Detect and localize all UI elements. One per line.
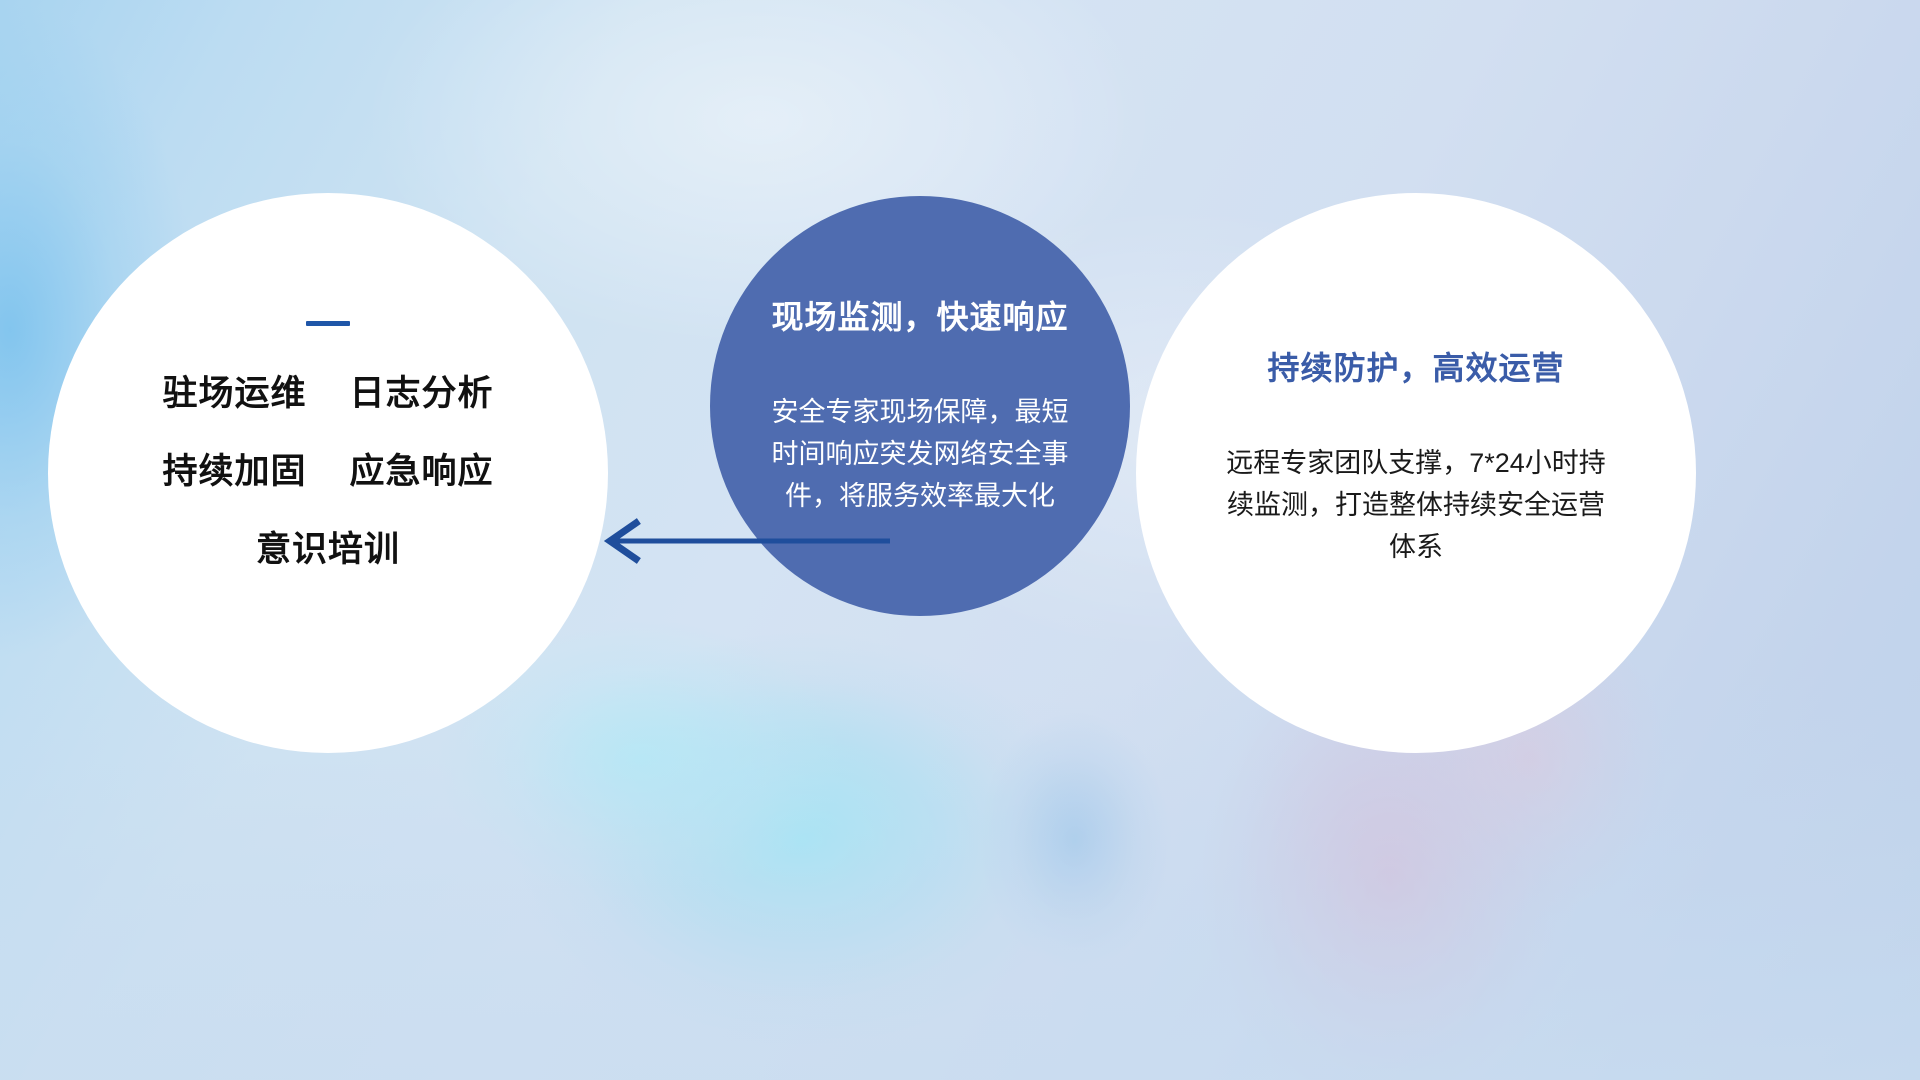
service-capability-line-2: 持续加固 应急响应 bbox=[163, 454, 494, 489]
onsite-monitoring-body: 安全专家现场保障，最短时间响应突发网络安全事件，将服务效率最大化 bbox=[764, 391, 1076, 517]
flow-arrow-left-icon bbox=[590, 516, 890, 566]
onsite-monitoring-title: 现场监测，快速响应 bbox=[771, 300, 1068, 335]
continuous-protection-title: 持续防护，高效运营 bbox=[1267, 351, 1564, 386]
service-capability-line-3: 意识培训 bbox=[256, 532, 400, 567]
continuous-protection-content: 持续防护，高效运营 远程专家团队支撑，7*24小时持续监测，打造整体持续安全运营… bbox=[1136, 351, 1696, 569]
service-capabilities-circle[interactable]: 驻场运维 日志分析 持续加固 应急响应 意识培训 bbox=[48, 193, 608, 753]
service-capabilities-content: 驻场运维 日志分析 持续加固 应急响应 意识培训 bbox=[48, 321, 608, 567]
onsite-monitoring-content: 现场监测，快速响应 安全专家现场保障，最短时间响应突发网络安全事件，将服务效率最… bbox=[684, 300, 1156, 518]
slide-canvas: 现场监测，快速响应 安全专家现场保障，最短时间响应突发网络安全事件，将服务效率最… bbox=[0, 0, 1920, 1080]
divider-dash-icon bbox=[306, 321, 350, 326]
continuous-protection-circle[interactable]: 持续防护，高效运营 远程专家团队支撑，7*24小时持续监测，打造整体持续安全运营… bbox=[1136, 193, 1696, 753]
continuous-protection-body: 远程专家团队支撑，7*24小时持续监测，打造整体持续安全运营体系 bbox=[1216, 442, 1616, 568]
service-capability-line-1: 驻场运维 日志分析 bbox=[163, 376, 494, 411]
